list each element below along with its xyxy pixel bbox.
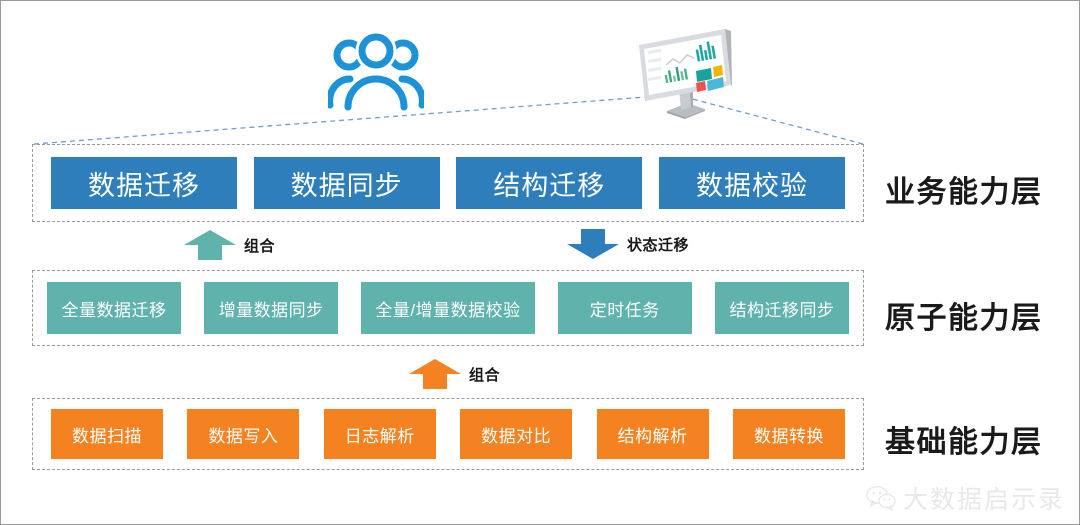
people-group-icon xyxy=(328,29,424,113)
chip-business-3[interactable]: 数据校验 xyxy=(659,157,845,209)
layer-name-business: 业务能力层 xyxy=(885,167,1043,211)
chip-base-2[interactable]: 日志解析 xyxy=(324,409,436,459)
business-layer-band: 数据迁移 数据同步 结构迁移 数据校验 xyxy=(32,144,864,222)
chip-base-3[interactable]: 数据对比 xyxy=(460,409,572,459)
arrow-label-combine-teal: 组合 xyxy=(244,235,275,256)
chip-atomic-0[interactable]: 全量数据迁移 xyxy=(47,282,181,334)
chip-business-1[interactable]: 数据同步 xyxy=(254,157,440,209)
arrow-group-state-transfer: 状态迁移 xyxy=(567,229,689,259)
base-layer-band: 数据扫描 数据写入 日志解析 数据对比 结构解析 数据转换 xyxy=(32,398,864,470)
arrow-down-blue-icon xyxy=(567,229,619,259)
chip-base-0[interactable]: 数据扫描 xyxy=(51,409,163,459)
arrow-label-state-transfer: 状态迁移 xyxy=(627,234,689,255)
arrow-group-combine-orange: 组合 xyxy=(409,359,500,389)
chip-business-2[interactable]: 结构迁移 xyxy=(456,157,642,209)
atomic-layer-band: 全量数据迁移 增量数据同步 全量/增量数据校验 定时任务 结构迁移同步 xyxy=(32,270,864,346)
chip-base-5[interactable]: 数据转换 xyxy=(733,409,845,459)
arrow-group-combine-teal: 组合 xyxy=(184,230,275,260)
chip-business-0[interactable]: 数据迁移 xyxy=(51,157,237,209)
layer-name-atomic: 原子能力层 xyxy=(885,293,1043,337)
chip-atomic-2[interactable]: 全量/增量数据校验 xyxy=(361,282,534,334)
chip-atomic-3[interactable]: 定时任务 xyxy=(558,282,692,334)
arrow-up-teal-icon xyxy=(184,230,236,260)
chip-base-1[interactable]: 数据写入 xyxy=(187,409,299,459)
wechat-icon xyxy=(866,485,896,511)
diagram-canvas: 数据迁移 数据同步 结构迁移 数据校验 业务能力层 组合 状态迁移 全量数据迁移… xyxy=(0,0,1080,525)
arrow-up-orange-icon xyxy=(409,359,461,389)
watermark-text: 大数据启示录 xyxy=(903,480,1065,516)
desktop-monitor-dashboard-icon xyxy=(633,27,737,121)
chip-atomic-4[interactable]: 结构迁移同步 xyxy=(715,282,849,334)
arrow-label-combine-orange: 组合 xyxy=(469,364,500,385)
chip-base-4[interactable]: 结构解析 xyxy=(597,409,709,459)
chip-atomic-1[interactable]: 增量数据同步 xyxy=(204,282,338,334)
layer-name-base: 基础能力层 xyxy=(885,417,1043,461)
watermark: 大数据启示录 xyxy=(866,480,1065,516)
